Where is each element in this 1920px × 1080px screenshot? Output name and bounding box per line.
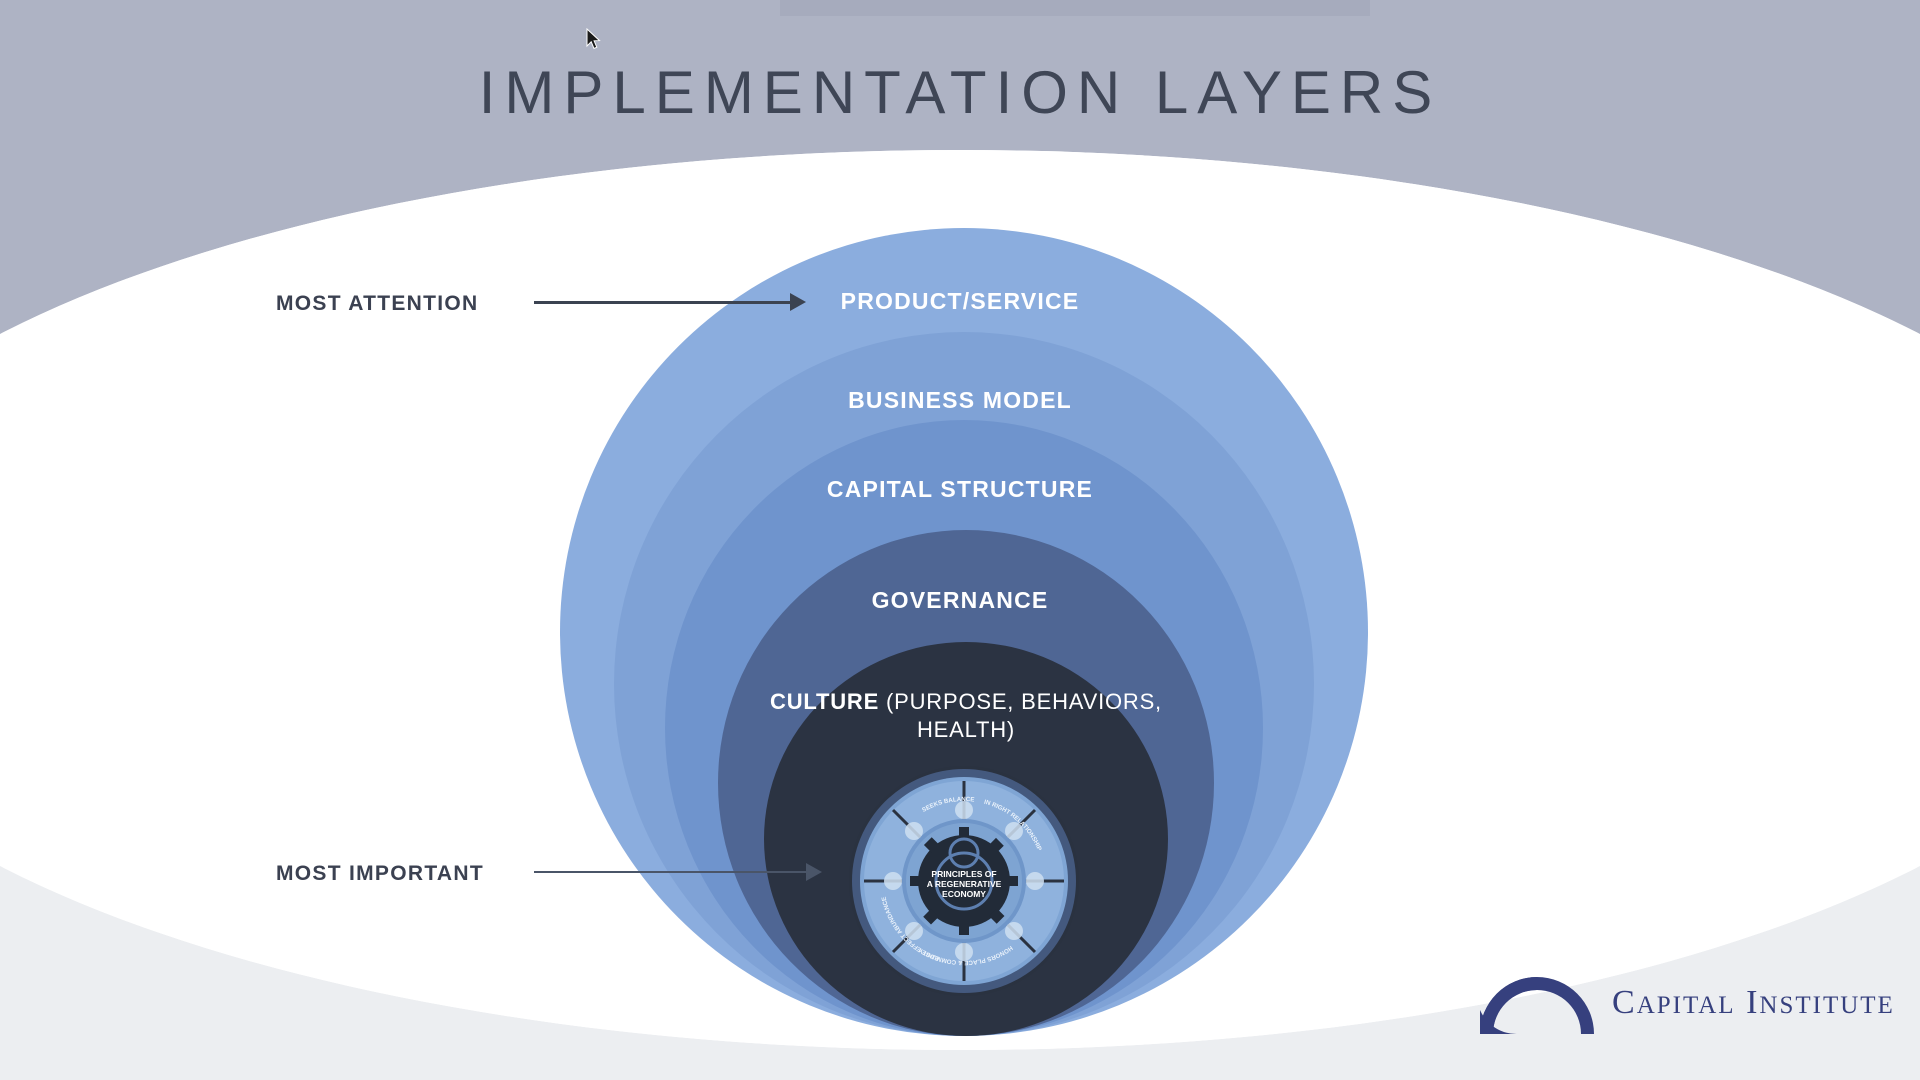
logo-word-capital-cap: C: [1612, 984, 1637, 1021]
logo-word-institute-cap: I: [1746, 984, 1759, 1021]
mouse-cursor: [586, 28, 602, 57]
capital-institute-logo[interactable]: CAPITAL INSTITUTE: [1478, 970, 1895, 1036]
most-attention-arrow-line: [534, 301, 792, 304]
culture-bold-word: CULTURE: [770, 689, 879, 714]
wheel-center-line-2: A REGENERATIVE: [927, 879, 1002, 889]
most-important-arrow-line: [534, 871, 810, 873]
layer-label-culture: CULTURE (PURPOSE, BEHAVIORS, HEALTH): [756, 688, 1176, 744]
most-attention-arrow-head: [790, 293, 806, 311]
implementation-layers-diagram: PRODUCT/SERVICE BUSINESS MODEL CAPITAL S…: [0, 0, 1920, 1080]
regenerative-economy-wheel[interactable]: PRINCIPLES OF A REGENERATIVE ECONOMY SEE…: [848, 765, 1080, 997]
layer-label-capital-structure: CAPITAL STRUCTURE: [0, 476, 1920, 503]
wheel-center-line-3: ECONOMY: [942, 889, 986, 899]
culture-detail-text: (PURPOSE, BEHAVIORS, HEALTH): [879, 689, 1162, 742]
layer-label-business-model: BUSINESS MODEL: [0, 387, 1920, 414]
cursor-arrow-icon: [586, 28, 602, 52]
wheel-center-line-1: PRINCIPLES OF: [931, 869, 996, 879]
most-important-label: MOST IMPORTANT: [276, 862, 484, 886]
most-attention-label: MOST ATTENTION: [276, 292, 479, 316]
slide-canvas: IMPLEMENTATION LAYERS PRODUCT/SERVICE BU…: [0, 0, 1920, 1080]
logo-arch-icon: [1478, 970, 1596, 1036]
logo-word-institute-rest: NSTITUTE: [1759, 992, 1894, 1019]
layer-label-governance: GOVERNANCE: [0, 587, 1920, 614]
wheel-graphic: PRINCIPLES OF A REGENERATIVE ECONOMY SEE…: [848, 765, 1080, 997]
most-important-arrow-head: [806, 863, 822, 881]
logo-wordmark: CAPITAL INSTITUTE: [1612, 984, 1895, 1022]
logo-word-capital-rest: APITAL: [1637, 992, 1736, 1019]
